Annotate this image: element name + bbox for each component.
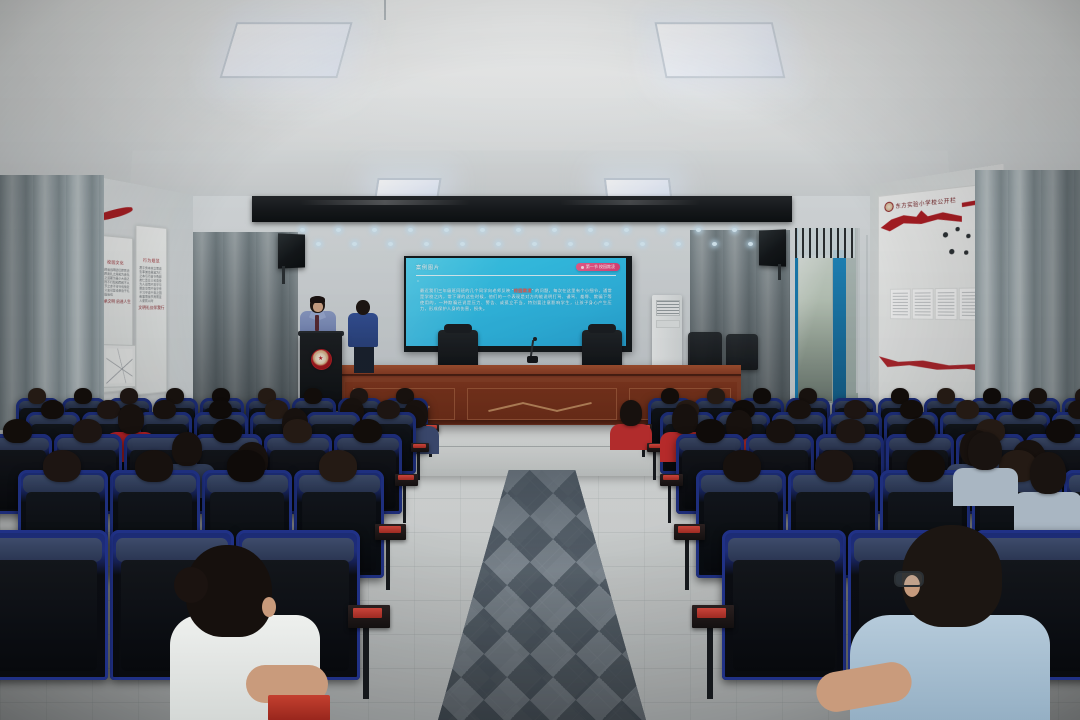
downlight-13 [516,228,521,232]
audience-member-head [836,419,865,443]
presenter-hair [310,296,325,303]
microphone-base [527,356,538,363]
framed-line-art-image [106,348,132,383]
audience-member-head [753,388,771,404]
seat-frame [0,530,108,680]
presenter-face [313,302,323,312]
student-red-uniform-head [118,404,144,434]
front-right-man-glasses-icon [894,571,924,587]
audience-member-head [209,400,232,419]
red-booklet[interactable] [697,608,726,618]
downlight-20 [640,242,645,246]
audience-member-head [968,432,1002,470]
downlight-12 [496,242,501,246]
red-booklet[interactable] [398,475,414,480]
seat-writing-tablet[interactable] [660,474,683,486]
downlight-18 [604,242,609,246]
police-emblem-star-icon: ★ [318,356,323,362]
board-dot-1 [943,232,948,238]
audience-member-head [304,388,322,404]
audience-member-head [956,400,979,419]
red-booklet[interactable] [413,444,426,448]
audience-member-head [707,388,725,404]
back-right-panel-light-icon [604,178,672,198]
audience-member-shoulders [953,468,1018,506]
seat-writing-tablet[interactable] [674,524,705,540]
poster-b-footer: 文明礼仪伴我行 [136,305,166,311]
board-document-2 [912,288,934,320]
audience-member-head [1068,400,1080,419]
poster-b-body: 君子务本本立而道生孝弟也者其为仁之本与巧言令色鲜矣仁吾日三省吾身为人谋而不忠乎与… [136,263,166,305]
culture-poster-b: 行为规范 君子务本本立而道生孝弟也者其为仁之本与巧言令色鲜矣仁吾日三省吾身为人谋… [135,225,167,396]
audience-member-head [97,400,120,419]
wall-wire-1 [856,228,858,393]
microphone-head-icon [533,337,537,341]
downlight-16 [568,242,573,246]
red-booklet[interactable] [678,526,700,533]
red-booklet[interactable] [663,475,679,480]
audience-member-head [696,419,725,443]
audience-member-head [213,419,242,443]
school-crest-icon [884,201,893,212]
red-booklet[interactable] [379,526,401,533]
downlight-6 [388,242,393,246]
downlight-1 [300,228,305,232]
seat-support-leg [386,540,390,590]
audience-member-head [1046,419,1075,443]
downlight-15 [552,228,557,232]
audience-member-head [73,419,102,443]
front-left-panel-light-icon [220,22,353,78]
audience-member-head [788,400,811,419]
downlight-10 [460,242,465,246]
downlight-22 [676,242,681,246]
front-left-woman-ear [262,597,276,617]
ceiling-cable [384,0,386,20]
seat-writing-tablet[interactable] [348,605,390,628]
air-conditioner-control-panel[interactable] [656,320,680,328]
audience-member-head [377,400,400,419]
framed-line-art [103,344,136,388]
left-speaker-mount [282,266,285,284]
red-booklet[interactable] [353,608,382,618]
seat-support-leg [668,486,671,523]
downlight-24 [712,242,717,246]
beam-gloss-highlight-2 [560,200,700,205]
downlight-19 [624,228,629,232]
downlight-14 [532,242,537,246]
audience-member-head [319,450,357,482]
presenter-necktie [315,315,319,331]
downlight-25 [732,228,737,232]
audience-member-head [906,419,935,443]
doc-lines-3 [938,292,955,316]
wall-wire-2 [866,235,868,393]
front-left-woman-white-shirt [150,545,330,720]
seat-support-leg [653,452,656,480]
front-right-man-blue-shirt [850,525,1065,720]
audience-member-head [283,419,312,443]
auditorium-photo-scene: 案例图片 第一节 校园欺凌 “ 最近我们三年级班同班的几个同学向老师反映 “校园… [0,0,1080,720]
audience-member-head [723,450,761,482]
red-booklet[interactable] [268,695,330,720]
front-right-panel-light-icon [654,22,785,78]
downlight-17 [588,228,593,232]
beam-gloss-highlight-1 [300,200,470,205]
downlight-23 [696,228,701,232]
assistant-legs [354,345,374,373]
audience-member-head [74,388,92,404]
seat-writing-tablet[interactable] [692,605,734,628]
downlight-9 [444,228,449,232]
audience-member-head [1012,400,1035,419]
board-dot-3 [966,234,970,239]
audience-member-head [983,388,1001,404]
seat-writing-tablet[interactable] [411,443,429,452]
stage-chair-left-headrest [444,324,473,333]
downlight-3 [336,228,341,232]
table-chevron-c3 [556,402,592,412]
audience-seat[interactable] [0,530,108,680]
left-wall-speaker [278,233,305,268]
audience-member-head [900,400,923,419]
right-wall-speaker [759,229,786,266]
audience-member-head [661,388,679,404]
board-document-1 [890,288,911,319]
student-red-uniform-head [672,404,698,434]
air-conditioner-vent-icon [656,300,680,316]
audience-member-head [844,400,867,419]
doorway-glass-reflection [799,256,832,400]
back-left-panel-light-icon [374,178,441,198]
stage-chair-right-headrest [588,324,617,333]
audience-member-head [3,419,32,443]
audience-member-head [937,388,955,404]
board-dot-2 [955,227,959,232]
downlight-11 [480,228,485,232]
board-dot-4 [949,249,954,255]
downlight-21 [660,228,665,232]
doc-lines-2 [915,292,931,315]
audience-member-head [153,400,176,419]
head-table-top [341,365,741,374]
seat-writing-tablet[interactable] [375,524,406,540]
audience-seat[interactable] [722,530,846,680]
audience-member-head [620,400,642,426]
table-chevron-c1 [488,402,524,412]
seat-support-leg [707,628,713,699]
seat-writing-tablet[interactable] [395,474,418,486]
bulletin-board-title: 东方实验小学校公开栏 [896,195,957,210]
audience-member-shoulders [610,424,652,450]
downlight-7 [408,228,413,232]
table-chevron-c2 [522,402,558,412]
audience-member-head [907,450,945,482]
right-speaker-mount [778,264,781,280]
audience-member-head [172,432,202,466]
seat-support-leg [685,540,689,590]
audience-member-head [1029,388,1047,404]
downlight-26 [748,242,753,246]
head-table-top-edge [341,374,741,376]
audience-member-head [28,388,46,404]
front-left-woman-bun [174,567,208,603]
board-dot-5 [964,250,968,255]
seat-support-leg [363,628,369,699]
downlight-8 [424,242,429,246]
audience-member-head [815,450,853,482]
table-inset-center [467,388,617,420]
downlight-5 [372,228,377,232]
audience-member-head [120,388,138,404]
window-security-bars-icon [795,228,855,258]
doorway-blue-frame [833,250,846,402]
downlight-2 [316,242,321,246]
doc-lines-1 [893,293,908,316]
seat-frame [722,530,846,680]
audience-member-head [353,419,382,443]
assistant-head [356,300,370,315]
audience-member-head [766,419,795,443]
assistant-torso [348,313,378,347]
board-document-3 [935,288,958,321]
audience-member-head [227,450,265,482]
audience-member-head [41,400,64,419]
audience-member-head [135,450,173,482]
downlight-4 [352,242,357,246]
audience-member-head [43,450,81,482]
audience-member-head [1030,452,1066,494]
seat-support-leg [403,486,406,523]
